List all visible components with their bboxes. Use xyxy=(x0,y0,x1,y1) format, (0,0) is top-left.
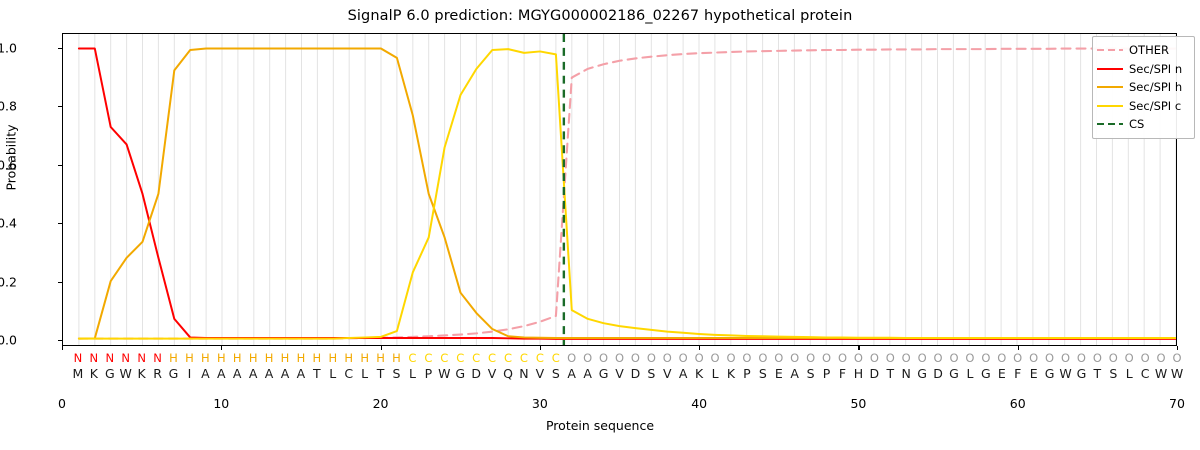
sequence-residue-cell: W xyxy=(117,366,134,381)
legend-label: Sec/SPI h xyxy=(1129,80,1182,94)
region-label-cell: H xyxy=(356,351,373,366)
region-label-cell: O xyxy=(1153,351,1170,366)
region-label-cell: H xyxy=(372,351,389,366)
sequence-residue-cell: D xyxy=(866,366,883,381)
region-label-cell: O xyxy=(579,351,596,366)
legend-label: OTHER xyxy=(1129,43,1169,57)
region-label-cell: C xyxy=(515,351,532,366)
x-tick-label: 30 xyxy=(532,396,548,411)
region-label-cell: O xyxy=(1137,351,1154,366)
region-label-cell: O xyxy=(993,351,1010,366)
region-label-cell: O xyxy=(898,351,915,366)
region-label-cell: O xyxy=(1009,351,1026,366)
sequence-residue-cell: A xyxy=(786,366,803,381)
x-axis-label: Protein sequence xyxy=(0,418,1200,433)
sequence-residue-cell: A xyxy=(675,366,692,381)
region-label-cell: O xyxy=(1057,351,1074,366)
x-tick-label: 10 xyxy=(213,396,229,411)
sequence-residue-cell: E xyxy=(1025,366,1042,381)
sequence-residue-cell: W xyxy=(436,366,453,381)
y-tick-label: 0.8 xyxy=(0,99,17,114)
region-label-cell: O xyxy=(977,351,994,366)
sequence-residue-cell: G xyxy=(595,366,612,381)
legend-swatch-icon xyxy=(1097,63,1123,75)
series-sec-spi-h xyxy=(79,49,1176,339)
x-tick-label: 20 xyxy=(373,396,389,411)
region-label-cell: O xyxy=(627,351,644,366)
region-label-cell: C xyxy=(484,351,501,366)
region-label-cell: H xyxy=(181,351,198,366)
x-tick-mark xyxy=(381,346,382,350)
region-label-cell: N xyxy=(85,351,102,366)
region-label-cell: H xyxy=(277,351,294,366)
sequence-residue-cell: T xyxy=(882,366,899,381)
sequence-residue-cell: S xyxy=(643,366,660,381)
sequence-residue-cell: V xyxy=(659,366,676,381)
sequence-residue-cell: D xyxy=(627,366,644,381)
region-label-cell: C xyxy=(452,351,469,366)
sequence-residue-cell: S xyxy=(388,366,405,381)
x-tick-mark xyxy=(62,346,63,350)
sequence-residue-cell: K xyxy=(85,366,102,381)
region-label-cell: O xyxy=(770,351,787,366)
legend-item-other[interactable]: OTHER xyxy=(1097,41,1189,60)
region-label-cell: H xyxy=(197,351,214,366)
region-label-cell: H xyxy=(388,351,405,366)
sequence-residue-cell: A xyxy=(261,366,278,381)
sequence-residue-cell: L xyxy=(707,366,724,381)
figure-title: SignalP 6.0 prediction: MGYG000002186_02… xyxy=(0,8,1200,24)
y-tick-label: 0.0 xyxy=(0,333,17,348)
region-label-cell: O xyxy=(866,351,883,366)
sequence-residue-cell: G xyxy=(914,366,931,381)
sequence-residue-cell: S xyxy=(1105,366,1122,381)
sequence-residue-cell: T xyxy=(308,366,325,381)
region-label-cell: N xyxy=(133,351,150,366)
sequence-residue-cell: W xyxy=(1169,366,1186,381)
region-label-cell: O xyxy=(914,351,931,366)
region-label-cell: O xyxy=(786,351,803,366)
sequence-residue-cell: G xyxy=(452,366,469,381)
region-label-cell: O xyxy=(802,351,819,366)
sequence-residue-cell: M xyxy=(69,366,86,381)
region-label-cell: N xyxy=(149,351,166,366)
sequence-residue-cell: A xyxy=(213,366,230,381)
legend-item-sec-spi-h[interactable]: Sec/SPI h xyxy=(1097,78,1189,97)
region-label-cell: H xyxy=(292,351,309,366)
legend-swatch-icon xyxy=(1097,118,1123,130)
sequence-residue-cell: G xyxy=(1041,366,1058,381)
legend-item-sec-spi-n[interactable]: Sec/SPI n xyxy=(1097,60,1189,79)
region-label-cell: O xyxy=(754,351,771,366)
data-curves xyxy=(63,34,1176,345)
x-tick-label: 50 xyxy=(850,396,866,411)
region-label-cell: O xyxy=(691,351,708,366)
region-label-cell: O xyxy=(961,351,978,366)
sequence-residue-cell: L xyxy=(961,366,978,381)
region-label-cell: C xyxy=(500,351,517,366)
sequence-residue-cell: A xyxy=(277,366,294,381)
region-label-cell: H xyxy=(261,351,278,366)
region-label-cell: O xyxy=(882,351,899,366)
y-tick-label: 1.0 xyxy=(0,40,17,55)
sequence-residue-cell: C xyxy=(340,366,357,381)
region-label-cell: H xyxy=(165,351,182,366)
region-label-cell: H xyxy=(213,351,230,366)
sequence-residue-cell: A xyxy=(563,366,580,381)
sequence-residue-cell: V xyxy=(611,366,628,381)
region-label-cell: O xyxy=(1121,351,1138,366)
sequence-residue-cell: L xyxy=(404,366,421,381)
legend-item-cs[interactable]: CS xyxy=(1097,115,1189,134)
sequence-residue-cell: L xyxy=(1121,366,1138,381)
sequence-residue-cell: G xyxy=(1073,366,1090,381)
sequence-residue-cell: A xyxy=(579,366,596,381)
sequence-residue-cell: D xyxy=(468,366,485,381)
sequence-residue-cell: S xyxy=(547,366,564,381)
region-label-cell: O xyxy=(707,351,724,366)
signalp-prediction-figure: SignalP 6.0 prediction: MGYG000002186_02… xyxy=(0,0,1200,450)
region-label-cell: N xyxy=(101,351,118,366)
region-label-cell: O xyxy=(818,351,835,366)
x-tick-label: 0 xyxy=(58,396,66,411)
sequence-residue-cell: P xyxy=(818,366,835,381)
region-label-cell: O xyxy=(659,351,676,366)
sequence-residue-cell: G xyxy=(977,366,994,381)
region-label-cell: O xyxy=(1041,351,1058,366)
region-label-cell: H xyxy=(229,351,246,366)
sequence-residue-cell: G xyxy=(165,366,182,381)
x-tick-label: 70 xyxy=(1169,396,1185,411)
plot-area xyxy=(62,33,1177,346)
sequence-residue-cell: F xyxy=(834,366,851,381)
region-label-cell: N xyxy=(117,351,134,366)
sequence-residue-cell: W xyxy=(1057,366,1074,381)
sequence-residue-cell: C xyxy=(1137,366,1154,381)
sequence-residue-cell: R xyxy=(149,366,166,381)
sequence-residue-cell: A xyxy=(292,366,309,381)
sequence-residue-cell: G xyxy=(101,366,118,381)
series-sec-spi-n xyxy=(79,49,1176,339)
legend-swatch-icon xyxy=(1097,81,1123,93)
sequence-residue-cell: A xyxy=(197,366,214,381)
x-tick-label: 40 xyxy=(691,396,707,411)
region-label-cell: O xyxy=(643,351,660,366)
y-tick-label: 0.4 xyxy=(0,216,17,231)
region-label-cell: O xyxy=(1089,351,1106,366)
sequence-residue-cell: P xyxy=(738,366,755,381)
region-label-cell: C xyxy=(468,351,485,366)
legend-label: Sec/SPI c xyxy=(1129,99,1181,113)
region-label-cell: O xyxy=(1073,351,1090,366)
sequence-residue-cell: S xyxy=(802,366,819,381)
sequence-residue-cell: I xyxy=(181,366,198,381)
sequence-residue-cell: T xyxy=(372,366,389,381)
sequence-residue-cell: A xyxy=(229,366,246,381)
x-tick-mark xyxy=(858,346,859,350)
sequence-residue-cell: P xyxy=(420,366,437,381)
sequence-residue-cell: N xyxy=(898,366,915,381)
sequence-residue-cell: K xyxy=(723,366,740,381)
region-label-cell: O xyxy=(946,351,963,366)
x-tick-mark xyxy=(1018,346,1019,350)
sequence-residue-cell: T xyxy=(1089,366,1106,381)
region-label-cell: O xyxy=(738,351,755,366)
sequence-residue-cell: H xyxy=(850,366,867,381)
legend-swatch-icon xyxy=(1097,44,1123,56)
sequence-residue-cell: K xyxy=(133,366,150,381)
region-label-cell: O xyxy=(723,351,740,366)
sequence-residue-cell: S xyxy=(754,366,771,381)
sequence-residue-cell: E xyxy=(770,366,787,381)
sequence-residue-cell: N xyxy=(515,366,532,381)
region-label-cell: O xyxy=(850,351,867,366)
y-tick-label: 0.2 xyxy=(0,274,17,289)
legend-swatch-icon xyxy=(1097,100,1123,112)
region-label-cell: H xyxy=(245,351,262,366)
region-label-cell: C xyxy=(547,351,564,366)
region-label-cell: C xyxy=(404,351,421,366)
series-sec-spi-c xyxy=(79,49,1176,338)
x-tick-mark xyxy=(221,346,222,350)
region-label-cell: O xyxy=(930,351,947,366)
legend-item-sec-spi-c[interactable]: Sec/SPI c xyxy=(1097,97,1189,116)
sequence-residue-cell: W xyxy=(1153,366,1170,381)
y-tick-label: 0.6 xyxy=(0,157,17,172)
series-other xyxy=(79,49,1176,339)
region-label-cell: O xyxy=(675,351,692,366)
legend[interactable]: OTHERSec/SPI nSec/SPI hSec/SPI cCS xyxy=(1092,36,1195,139)
region-label-cell: H xyxy=(324,351,341,366)
sequence-residue-cell: L xyxy=(324,366,341,381)
sequence-residue-cell: V xyxy=(531,366,548,381)
region-label-cell: O xyxy=(834,351,851,366)
region-label-cell: O xyxy=(611,351,628,366)
x-tick-mark xyxy=(540,346,541,350)
sequence-residue-cell: L xyxy=(356,366,373,381)
sequence-residue-cell: D xyxy=(930,366,947,381)
region-label-cell: H xyxy=(308,351,325,366)
x-tick-label: 60 xyxy=(1010,396,1026,411)
sequence-residue-cell: E xyxy=(993,366,1010,381)
region-label-cell: H xyxy=(340,351,357,366)
x-tick-mark xyxy=(1177,346,1178,350)
sequence-residue-cell: G xyxy=(946,366,963,381)
region-label-cell: O xyxy=(1105,351,1122,366)
sequence-residue-cell: K xyxy=(691,366,708,381)
region-label-cell: C xyxy=(420,351,437,366)
region-label-cell: N xyxy=(69,351,86,366)
x-tick-mark xyxy=(699,346,700,350)
region-label-cell: O xyxy=(1025,351,1042,366)
sequence-residue-cell: F xyxy=(1009,366,1026,381)
sequence-residue-cell: A xyxy=(245,366,262,381)
sequence-residue-cell: V xyxy=(484,366,501,381)
legend-label: Sec/SPI n xyxy=(1129,62,1182,76)
sequence-residue-cell: Q xyxy=(500,366,517,381)
legend-label: CS xyxy=(1129,117,1144,131)
region-label-cell: O xyxy=(1169,351,1186,366)
region-label-cell: C xyxy=(531,351,548,366)
region-label-cell: O xyxy=(595,351,612,366)
region-label-cell: C xyxy=(436,351,453,366)
region-label-cell: O xyxy=(563,351,580,366)
